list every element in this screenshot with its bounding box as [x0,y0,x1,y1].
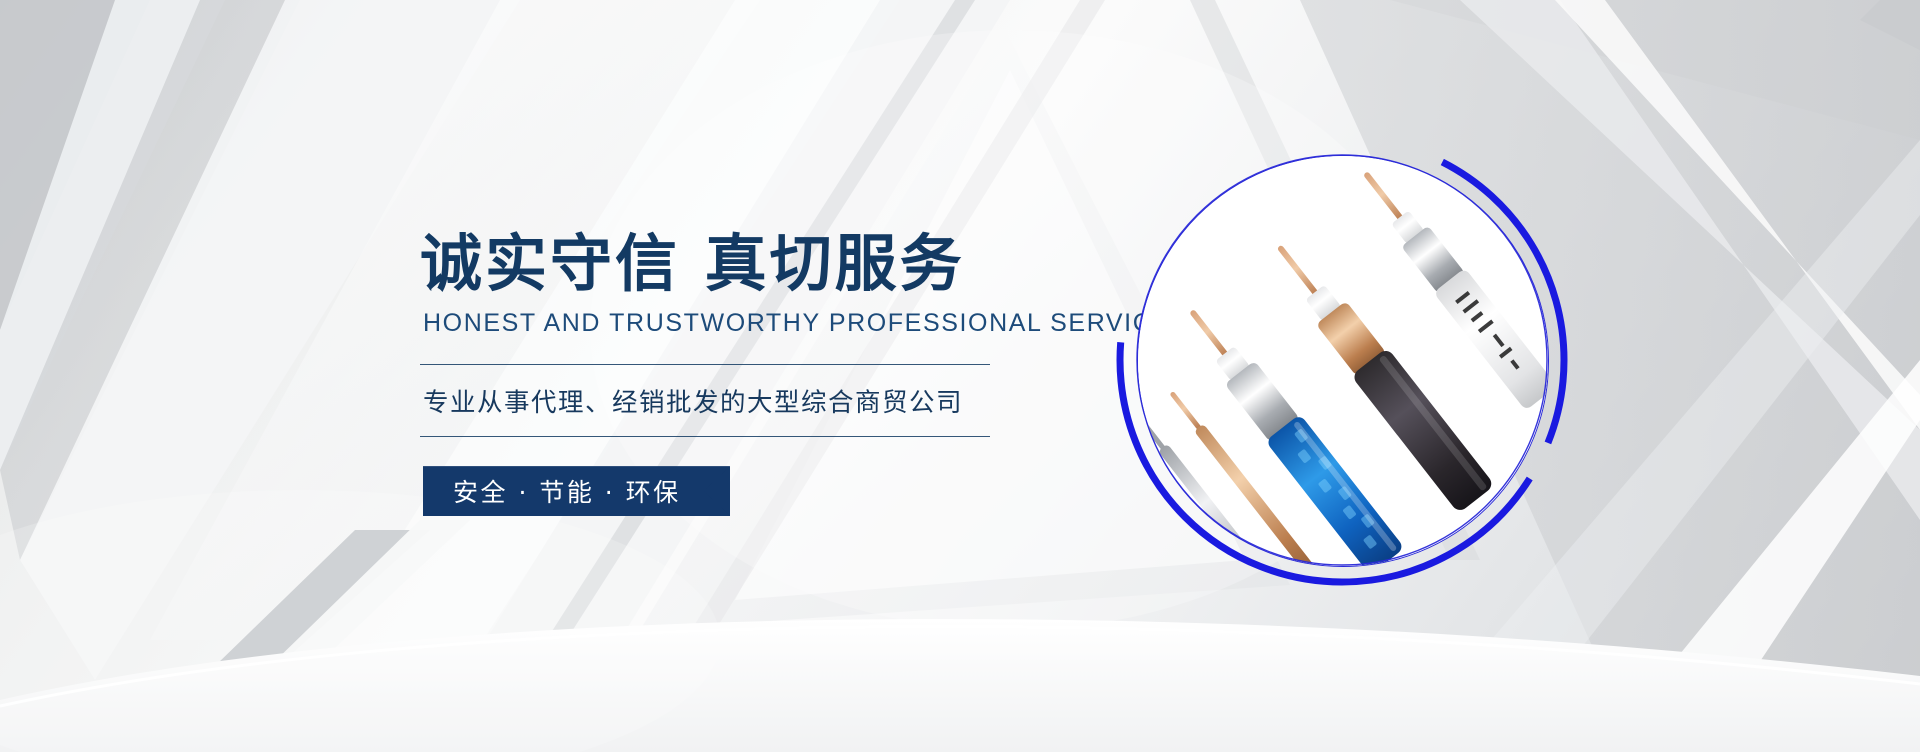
hero-banner: 诚实守信 真切服务 HONEST AND TRUSTWORTHY PROFESS… [0,0,1920,752]
features-ribbon: 安全 · 节能 · 环保 [423,466,730,516]
divider-top [420,364,990,365]
product-photo-circle [1112,130,1572,590]
ribbon-label: 安全 · 节能 · 环保 [453,473,681,509]
divider-bottom [420,436,990,437]
circle-outline-icon [1112,130,1572,590]
subtitle-english: HONEST AND TRUSTWORTHY PROFESSIONAL SERV… [423,309,1060,338]
description-text: 专业从事代理、经销批发的大型综合商贸公司 [423,382,1060,419]
page-title: 诚实守信 真切服务 [420,232,1060,295]
banner-text-block: 诚实守信 真切服务 HONEST AND TRUSTWORTHY PROFESS… [420,232,1060,516]
